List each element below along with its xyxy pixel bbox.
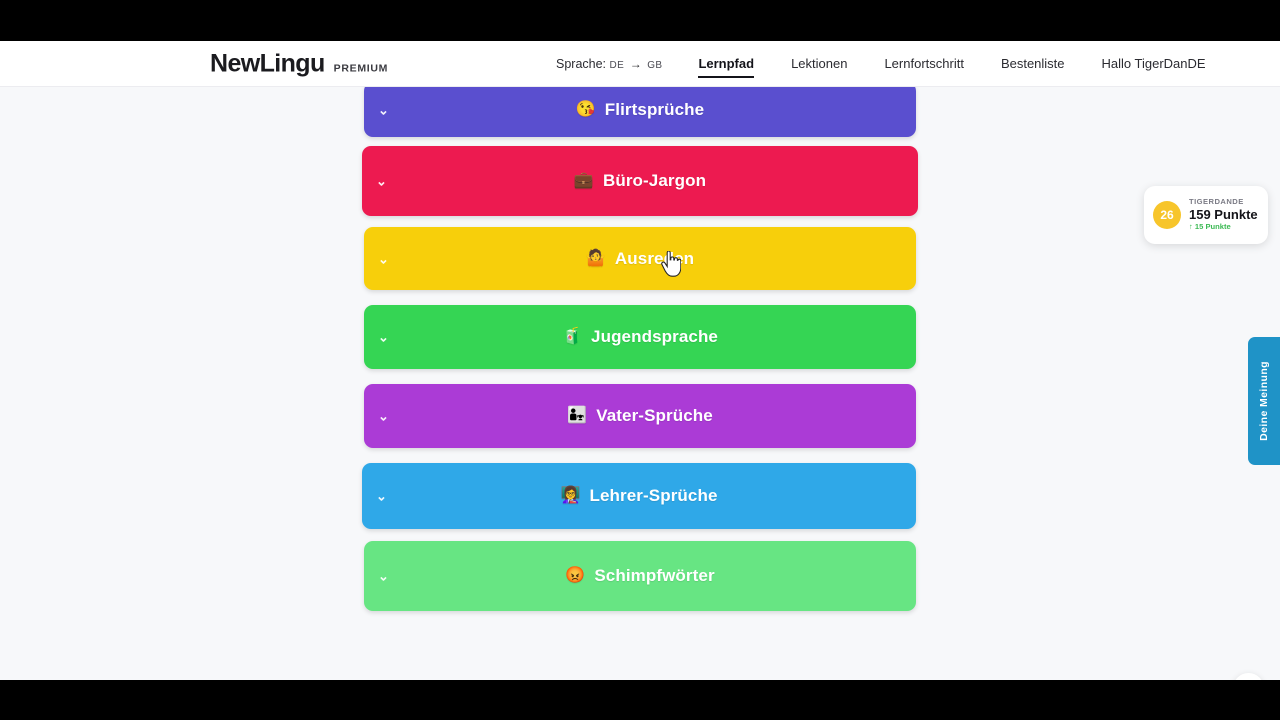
nav-item-lernpfad[interactable]: Lernpfad [698,56,754,73]
nav-item-bestenliste[interactable]: Bestenliste [1001,56,1065,73]
brand-logo[interactable]: NewLingu PREMIUM [210,49,388,78]
chevron-down-icon[interactable]: ⌄ [378,570,389,583]
logo-text: NewLingu [210,49,325,78]
lesson-card-emoji-icon: 👩‍🏫 [560,488,580,504]
lesson-card-4[interactable]: ⌄🧃Jugendsprache [364,305,916,369]
chevron-down-icon[interactable]: ⌄ [378,103,389,116]
lesson-card-emoji-icon: 🤷 [586,251,606,267]
scroll-to-top-button[interactable] [1233,673,1264,680]
lesson-card-label: Büro-Jargon [603,171,706,191]
chevron-down-icon[interactable]: ⌄ [376,490,387,503]
points-delta: ↑ 15 Punkte [1189,223,1258,232]
lesson-card-title: 😡Schimpfwörter [565,566,714,586]
chevron-down-icon[interactable]: ⌄ [378,252,389,265]
points-username: TIGERDANDE [1189,198,1258,207]
lesson-card-1[interactable]: ⌄😘Flirtsprüche [364,82,916,137]
nav-item-lektionen[interactable]: Lektionen [791,56,847,73]
lesson-card-emoji-icon: 🧃 [562,329,582,345]
level-circle: 26 [1153,201,1181,229]
site-header: NewLingu PREMIUM Sprache: DE → GB Lernpf… [0,41,1280,87]
lesson-card-label: Jugendsprache [591,327,718,347]
lesson-card-label: Ausreden [615,249,694,269]
lesson-card-7[interactable]: ⌄😡Schimpfwörter [364,541,916,611]
lesson-card-title: 🧃Jugendsprache [562,327,718,347]
language-selector[interactable]: Sprache: DE → GB [556,57,662,71]
language-to: GB [647,60,662,71]
lesson-card-label: Lehrer-Sprüche [590,486,718,506]
lesson-card-6[interactable]: ⌄👩‍🏫Lehrer-Sprüche [362,463,916,529]
feedback-tab-label: Deine Meinung [1258,361,1270,441]
language-arrow-icon: → [628,57,644,71]
lesson-card-title: 💼Büro-Jargon [574,171,706,191]
feedback-tab[interactable]: Deine Meinung [1248,337,1280,465]
lesson-card-emoji-icon: 💼 [574,173,594,189]
lesson-card-title: 😘Flirtsprüche [576,100,704,120]
language-label: Sprache: [556,57,606,71]
screen-letterbox-bottom [0,680,1280,720]
lesson-card-emoji-icon: 😘 [576,102,596,118]
points-score: 159 Punkte [1189,208,1258,223]
main-navigation: Sprache: DE → GB Lernpfad Lektionen Lern… [556,41,1206,87]
lesson-card-2[interactable]: ⌄💼Büro-Jargon [362,146,918,216]
lesson-card-3[interactable]: ⌄🤷Ausreden [364,227,916,290]
browser-viewport: NewLingu PREMIUM Sprache: DE → GB Lernpf… [0,41,1280,680]
points-info: TIGERDANDE 159 Punkte ↑ 15 Punkte [1189,198,1258,232]
lesson-card-title: 👨‍👧Vater-Sprüche [567,406,713,426]
chevron-down-icon[interactable]: ⌄ [376,175,387,188]
language-from: DE [610,60,625,71]
lesson-card-emoji-icon: 👨‍👧 [567,408,587,424]
lesson-card-title: 👩‍🏫Lehrer-Sprüche [560,486,717,506]
lesson-card-label: Vater-Sprüche [596,406,713,426]
points-badge[interactable]: 26 TIGERDANDE 159 Punkte ↑ 15 Punkte [1144,186,1268,244]
lesson-card-label: Schimpfwörter [594,566,714,586]
chevron-down-icon[interactable]: ⌄ [378,331,389,344]
lesson-card-emoji-icon: 😡 [565,568,585,584]
nav-item-account[interactable]: Hallo TigerDanDE [1102,56,1206,73]
premium-badge: PREMIUM [334,62,388,74]
lesson-card-label: Flirtsprüche [605,100,704,120]
lesson-card-title: 🤷Ausreden [586,249,694,269]
screen-letterbox-top [0,0,1280,41]
lesson-card-5[interactable]: ⌄👨‍👧Vater-Sprüche [364,384,916,448]
chevron-down-icon[interactable]: ⌄ [378,410,389,423]
nav-item-lernfortschritt[interactable]: Lernfortschritt [884,56,963,73]
